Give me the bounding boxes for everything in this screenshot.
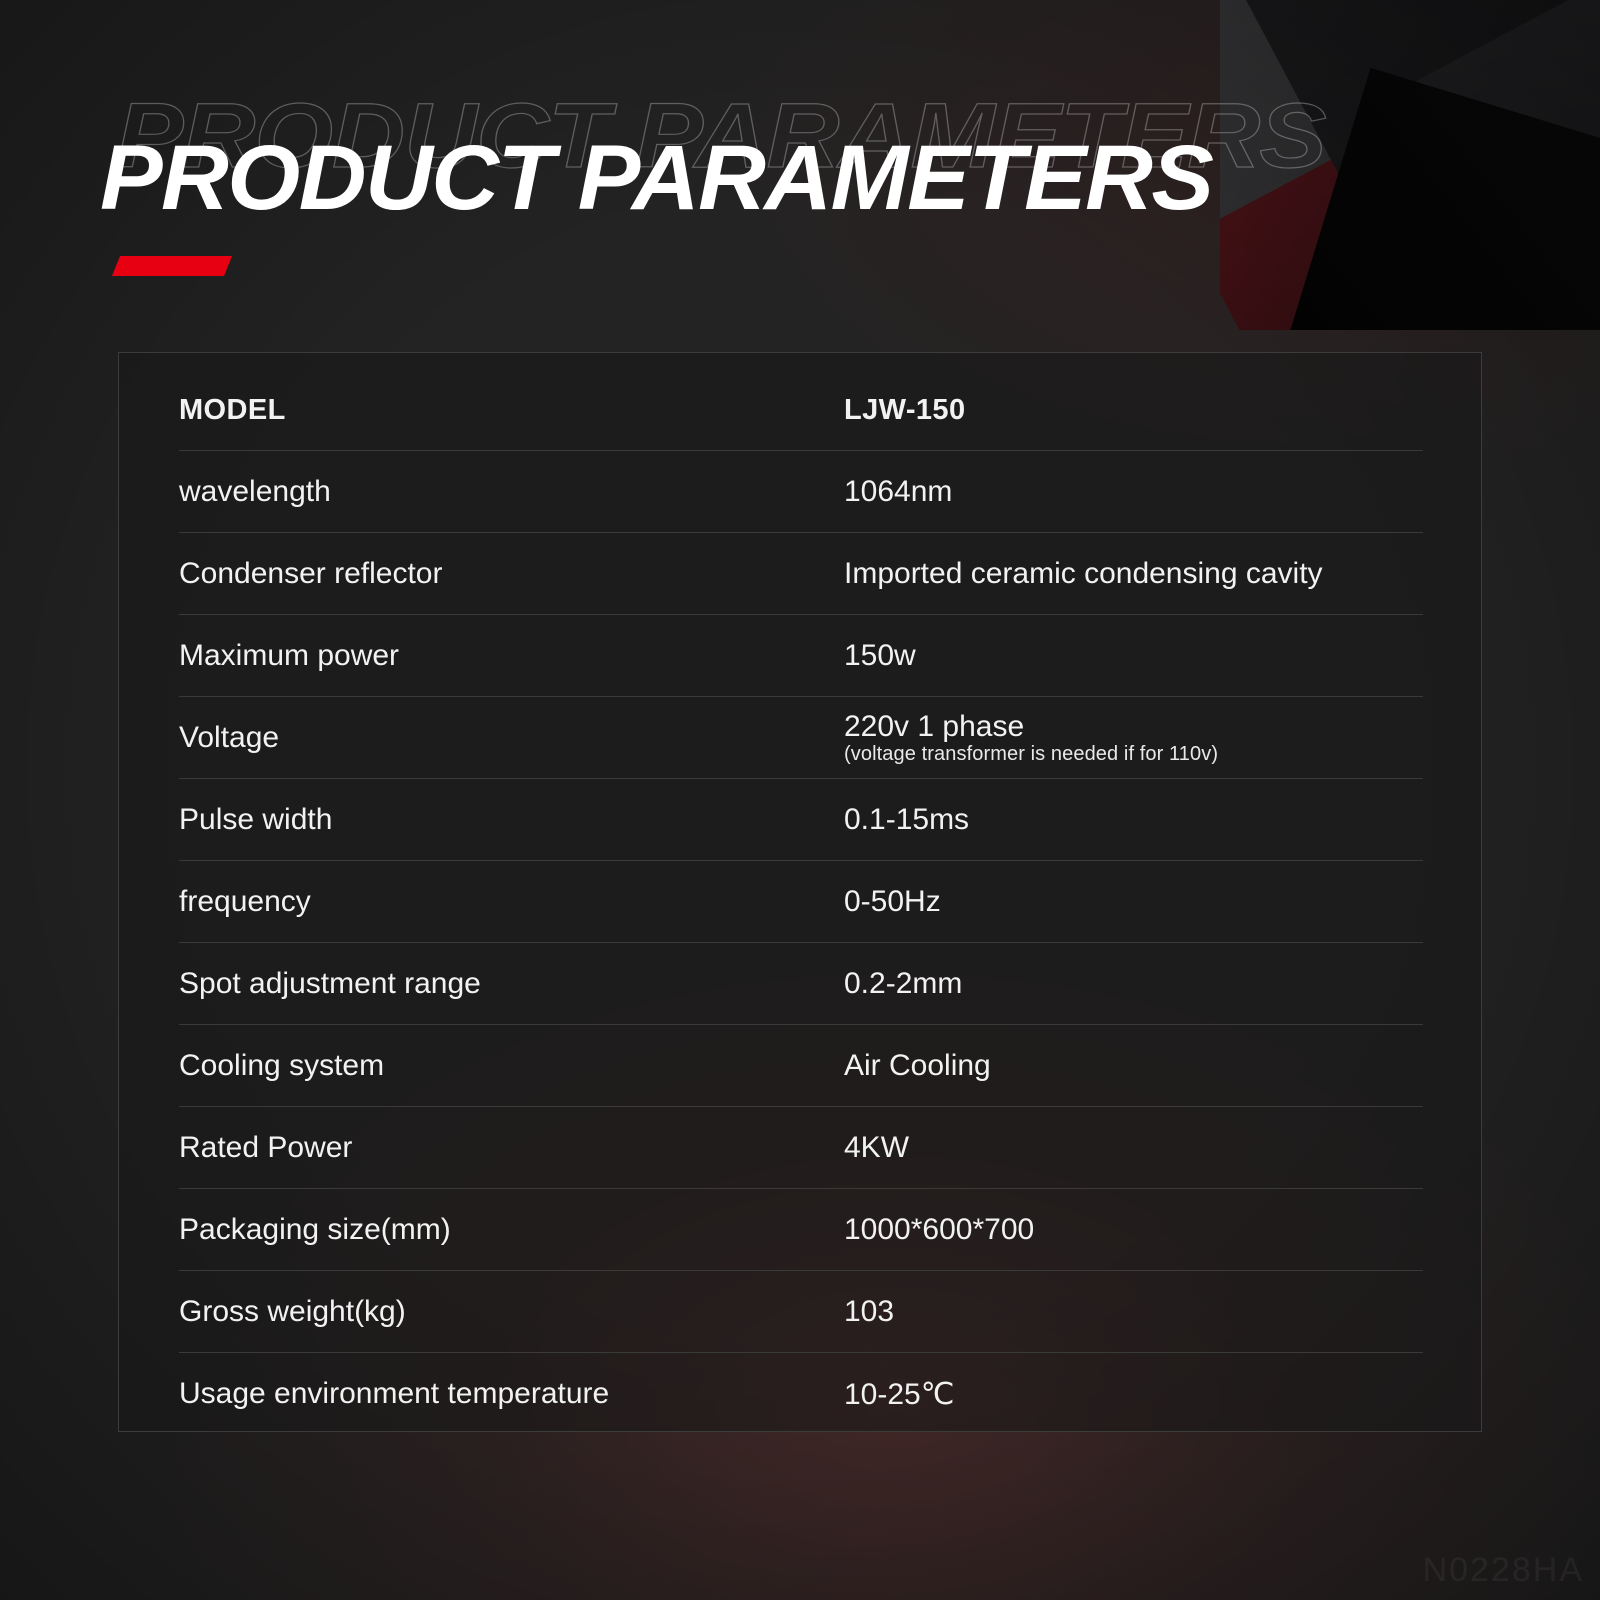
spec-label: Gross weight(kg)	[179, 1295, 844, 1329]
spec-label: Usage environment temperature	[179, 1377, 844, 1411]
spec-label: Pulse width	[179, 803, 844, 837]
product-parameters-page: PRODUCT PARAMETERS PRODUCT PARAMETERS MO…	[0, 0, 1600, 1600]
specification-panel: MODEL LJW-150 wavelength 1064nm Condense…	[118, 352, 1482, 1432]
spec-label: Voltage	[179, 721, 844, 755]
table-row: Rated Power 4KW	[179, 1107, 1423, 1189]
table-header-value: LJW-150	[844, 394, 1423, 427]
spec-value: Imported ceramic condensing cavity	[844, 557, 1423, 591]
table-row: Spot adjustment range 0.2-2mm	[179, 943, 1423, 1025]
spec-value: 10-25℃	[844, 1377, 1423, 1412]
spec-label: wavelength	[179, 475, 844, 509]
spec-label: Condenser reflector	[179, 557, 844, 591]
spec-value: Air Cooling	[844, 1049, 1423, 1083]
spec-label: Packaging size(mm)	[179, 1213, 844, 1247]
table-header-row: MODEL LJW-150	[179, 371, 1423, 451]
table-row: wavelength 1064nm	[179, 451, 1423, 533]
spec-value: 150w	[844, 639, 1423, 673]
table-row: Cooling system Air Cooling	[179, 1025, 1423, 1107]
table-row: Pulse width 0.1-15ms	[179, 779, 1423, 861]
spec-label: Cooling system	[179, 1049, 844, 1083]
spec-value: 103	[844, 1295, 1423, 1329]
table-row: Usage environment temperature 10-25℃	[179, 1353, 1423, 1435]
table-row: Packaging size(mm) 1000*600*700	[179, 1189, 1423, 1271]
spec-label: Rated Power	[179, 1131, 844, 1165]
spec-value: 0.2-2mm	[844, 967, 1423, 1001]
table-row: Gross weight(kg) 103	[179, 1271, 1423, 1353]
page-title-group: PRODUCT PARAMETERS PRODUCT PARAMETERS	[100, 100, 1300, 240]
table-row: Condenser reflector Imported ceramic con…	[179, 533, 1423, 615]
spec-value: 1000*600*700	[844, 1213, 1423, 1247]
page-title: PRODUCT PARAMETERS	[100, 132, 1212, 224]
spec-value: 0-50Hz	[844, 885, 1423, 919]
red-accent-bar	[112, 256, 232, 276]
watermark: N0228HA	[1423, 1551, 1584, 1590]
spec-value: 0.1-15ms	[844, 803, 1423, 837]
spec-label: frequency	[179, 885, 844, 919]
table-header-label: MODEL	[179, 394, 844, 427]
spec-value-note: (voltage transformer is needed if for 11…	[844, 743, 1423, 766]
table-row: Voltage 220v 1 phase (voltage transforme…	[179, 697, 1423, 779]
spec-value: 4KW	[844, 1131, 1423, 1165]
table-row: frequency 0-50Hz	[179, 861, 1423, 943]
specification-table: MODEL LJW-150 wavelength 1064nm Condense…	[179, 371, 1423, 1435]
spec-value: 1064nm	[844, 475, 1423, 509]
decoration-dark-wedge-secondary	[1388, 0, 1600, 330]
spec-value: 220v 1 phase (voltage transformer is nee…	[844, 710, 1423, 766]
spec-value-primary: 220v 1 phase	[844, 710, 1024, 743]
spec-label: Spot adjustment range	[179, 967, 844, 1001]
spec-label: Maximum power	[179, 639, 844, 673]
table-row: Maximum power 150w	[179, 615, 1423, 697]
